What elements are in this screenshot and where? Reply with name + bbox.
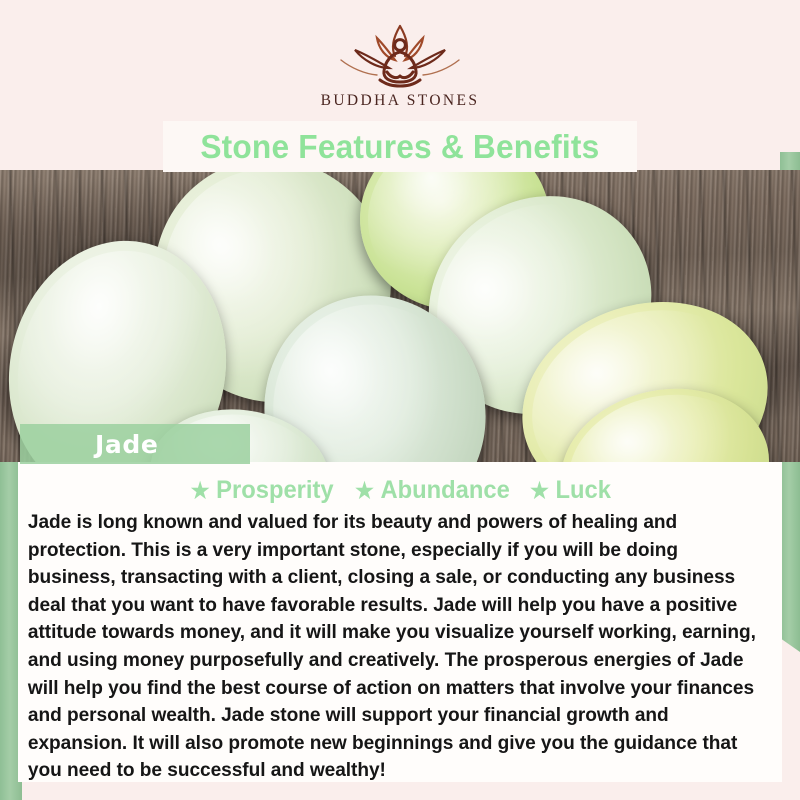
keyword-luck: ★ Luck bbox=[530, 476, 611, 505]
star-icon: ★ bbox=[530, 480, 549, 502]
lotus-meditation-icon bbox=[325, 22, 475, 90]
brand-header: BUDDHA STONES bbox=[0, 0, 800, 122]
title-banner: Stone Features & Benefits bbox=[163, 121, 637, 172]
stone-name-text: Jade bbox=[95, 430, 158, 459]
keyword-abundance: ★ Abundance bbox=[355, 476, 510, 505]
page-title: Stone Features & Benefits bbox=[200, 128, 599, 166]
keyword-label: Luck bbox=[556, 476, 611, 505]
brand-wordmark: BUDDHA STONES bbox=[321, 92, 480, 110]
keyword-label: Abundance bbox=[381, 476, 510, 505]
keyword-list: ★ Prosperity ★ Abundance ★ Luck bbox=[22, 476, 778, 505]
infographic-page: BUDDHA STONES Stone Features & Benefits … bbox=[0, 0, 800, 800]
keyword-label: Prosperity bbox=[216, 476, 333, 505]
keyword-prosperity: ★ Prosperity bbox=[191, 476, 334, 505]
stone-name-label: Jade bbox=[20, 424, 250, 464]
star-icon: ★ bbox=[355, 480, 374, 502]
star-icon: ★ bbox=[191, 480, 210, 502]
content-panel: ★ Prosperity ★ Abundance ★ Luck Jade is … bbox=[18, 462, 782, 782]
hero-photo bbox=[0, 170, 800, 462]
stone-description: Jade is long known and valued for its be… bbox=[22, 509, 767, 785]
